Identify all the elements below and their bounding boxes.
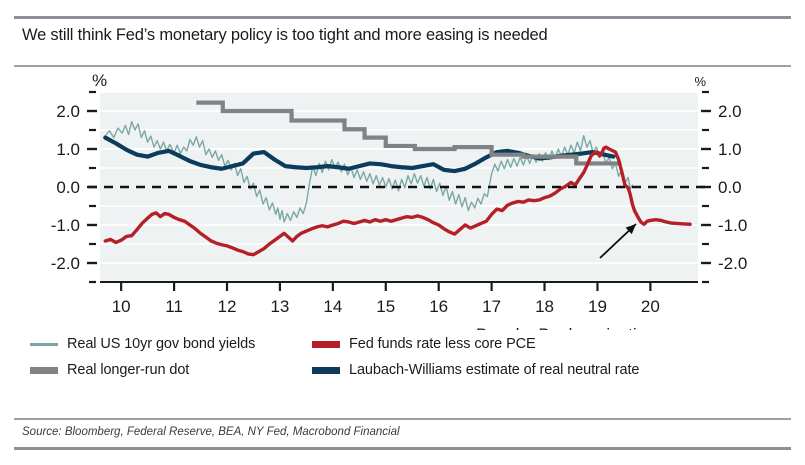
legend-row: Real longer-run dotLaubach-Williams esti… [30, 362, 775, 384]
axis-tick-label: -1.0 [718, 216, 747, 235]
axis-tick-label: 14 [323, 297, 342, 316]
chart-figure: We still think Fed’s monetary policy is … [0, 0, 805, 465]
axis-tick-label: 20 [641, 297, 660, 316]
axis-tick-label: 12 [218, 297, 237, 316]
legend-swatch-icon [30, 343, 58, 346]
axis-tick-label: 15 [376, 297, 395, 316]
axis-tick-label: 0.0 [56, 178, 80, 197]
legend-label: Real longer-run dot [67, 362, 189, 378]
axis-tick-label: 13 [270, 297, 289, 316]
axis-tick-label: 19 [588, 297, 607, 316]
legend-swatch-icon [312, 367, 340, 374]
axis-tick-label: 10 [112, 297, 131, 316]
title-separator-rule [14, 65, 791, 67]
legend-item[interactable]: Real longer-run dot [30, 362, 189, 378]
axis-tick-label: 0.0 [718, 178, 742, 197]
axis-tick-label: 16 [429, 297, 448, 316]
legend-swatch-icon [312, 341, 340, 348]
chart-title: We still think Fed’s monetary policy is … [22, 26, 548, 45]
legend-item[interactable]: Laubach-Williams estimate of real neutra… [312, 362, 639, 378]
chart-svg: -2.0-2.0-1.0-1.00.00.01.01.02.02.0%%1011… [14, 70, 791, 330]
axis-tick-label: 2.0 [56, 102, 80, 121]
legend-label: Laubach-Williams estimate of real neutra… [349, 362, 639, 378]
axis-tick-label: 18 [535, 297, 554, 316]
legend-row: Real US 10yr gov bond yieldsFed funds ra… [30, 336, 775, 358]
axis-tick-label: 1.0 [718, 140, 742, 159]
axis-tick-label: 17 [482, 297, 501, 316]
axis-tick-label: 2.0 [718, 102, 742, 121]
source-separator-rule [14, 418, 791, 420]
bottom-rule [14, 447, 791, 450]
top-rule [14, 16, 791, 19]
axis-tick-label: 1.0 [56, 140, 80, 159]
y-axis-unit-left: % [92, 71, 107, 90]
annotation-label: Danske Bank projection [476, 325, 656, 330]
legend-label: Real US 10yr gov bond yields [67, 336, 255, 352]
legend-swatch-icon [30, 367, 58, 374]
legend-item[interactable]: Real US 10yr gov bond yields [30, 336, 255, 352]
legend-item[interactable]: Fed funds rate less core PCE [312, 336, 536, 352]
plot-area: -2.0-2.0-1.0-1.00.00.01.01.02.02.0%%1011… [14, 70, 791, 330]
axis-tick-label: -2.0 [51, 254, 80, 273]
y-axis-unit-right: % [694, 74, 706, 89]
legend-label: Fed funds rate less core PCE [349, 336, 536, 352]
axis-tick-label: -2.0 [718, 254, 747, 273]
axis-tick-label: -1.0 [51, 216, 80, 235]
source-note: Source: Bloomberg, Federal Reserve, BEA,… [22, 426, 400, 438]
chart-legend: Real US 10yr gov bond yieldsFed funds ra… [30, 336, 775, 410]
axis-tick-label: 11 [165, 297, 183, 316]
